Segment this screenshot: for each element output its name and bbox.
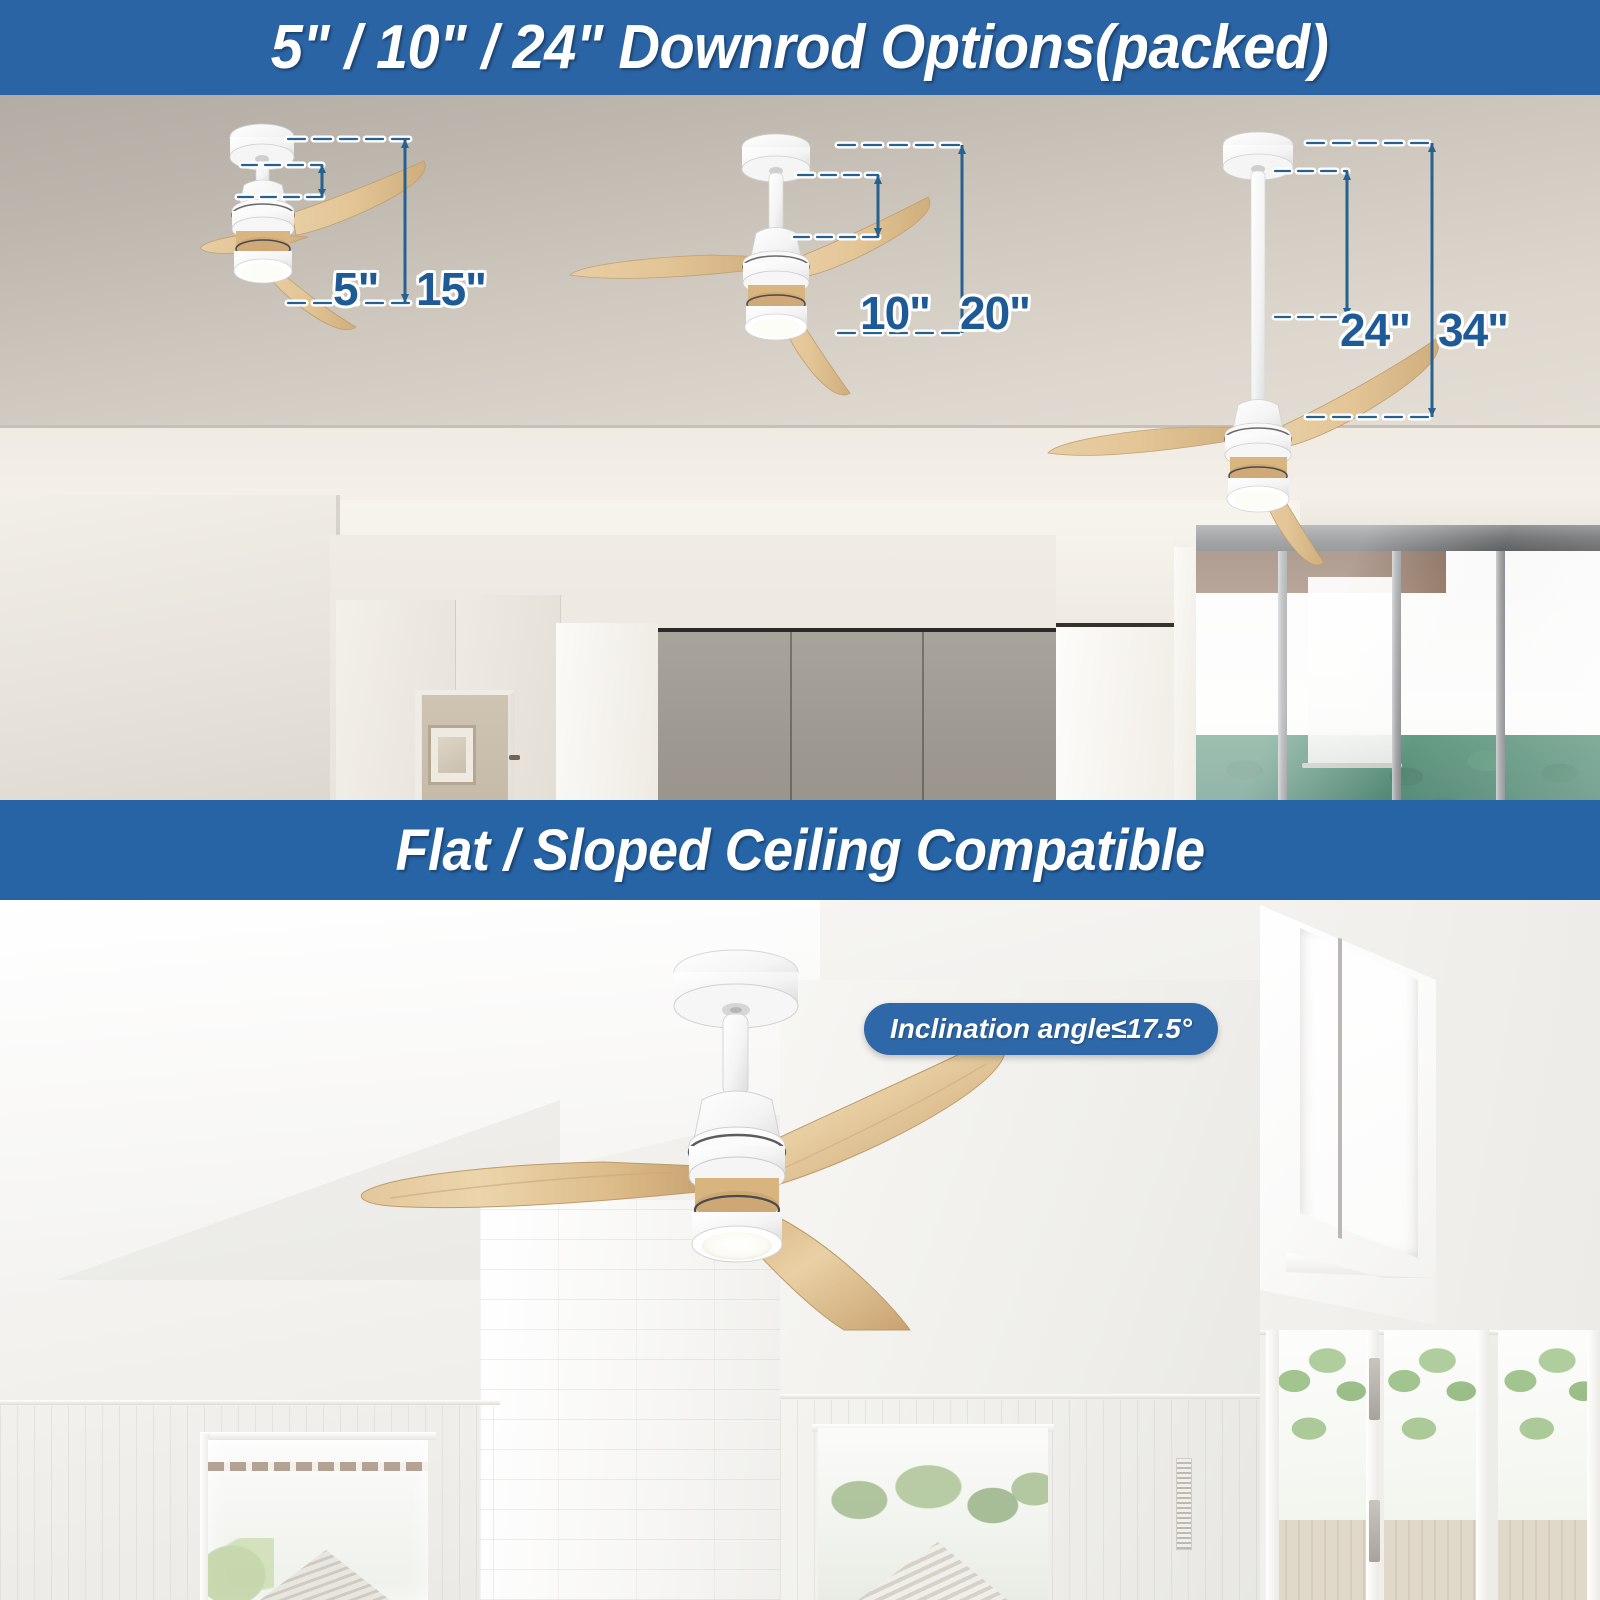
dormer-mullion — [1338, 938, 1342, 1239]
dormer-window-glass — [1300, 928, 1418, 1258]
cabinet-seam — [790, 632, 792, 800]
exterior-foliage — [1384, 1330, 1476, 1500]
exterior-foliage — [1274, 1330, 1366, 1500]
downrod — [1251, 171, 1265, 403]
french-door-stile — [1476, 1330, 1489, 1600]
sloped-ceiling-scene — [0, 900, 1600, 1600]
exterior-fence — [1384, 1520, 1476, 1600]
middle-banner: Flat / Sloped Ceiling Compatible — [0, 800, 1600, 900]
pergola-slats — [208, 1462, 428, 1471]
exterior-foliage — [1498, 1330, 1600, 1500]
roller-blind-bar — [1302, 763, 1402, 768]
french-doors — [1266, 1330, 1600, 1600]
exterior-fence — [1498, 1520, 1600, 1600]
mid-door-opening — [818, 1428, 1048, 1600]
french-door-pane[interactable] — [1274, 1330, 1366, 1600]
cabinet-seam — [922, 632, 924, 800]
inclination-angle-text: Inclination angle≤17.5° — [890, 1013, 1192, 1045]
exterior-roof — [260, 1550, 390, 1600]
middle-banner-title: Flat / Sloped Ceiling Compatible — [395, 817, 1204, 884]
ceiling-fan-sloped — [350, 930, 1070, 1330]
dimension-lines-fan2 — [790, 133, 1060, 403]
left-door-opening — [208, 1440, 428, 1600]
white-cabinet-right — [1056, 623, 1174, 800]
label-fan1-downrod: 5" — [333, 262, 378, 316]
door-hinge — [1369, 1358, 1380, 1420]
fan-blade-left — [361, 1162, 700, 1208]
window-head-rail — [1196, 525, 1600, 551]
top-banner-title: 5" / 10" / 24" Downrod Options(packed) — [271, 12, 1329, 83]
exterior-fence — [1274, 1520, 1366, 1600]
french-door-pane[interactable] — [1384, 1330, 1476, 1600]
label-fan1-total: 15" — [416, 262, 486, 316]
top-banner: 5" / 10" / 24" Downrod Options(packed) — [0, 0, 1600, 95]
dimension-lines-fan3 — [1275, 131, 1600, 471]
white-column — [556, 623, 658, 800]
window-mullion — [1496, 525, 1505, 800]
french-door-stile — [1266, 1330, 1279, 1600]
inclination-angle-badge: Inclination angle≤17.5° — [864, 1003, 1218, 1055]
window-mullion — [1392, 525, 1401, 800]
window-mullion — [1278, 525, 1287, 800]
door-hinge — [1369, 1500, 1380, 1562]
label-fan2-total: 20" — [960, 286, 1030, 340]
led-lens — [1234, 490, 1282, 510]
label-fan3-total: 34" — [1438, 303, 1508, 357]
downrod — [723, 1014, 748, 1096]
product-infographic: 5" / 10" / 24" Downrod Options(packed) — [0, 0, 1600, 1600]
grey-upper-cabinets — [658, 628, 1056, 800]
french-door-pane[interactable] — [1498, 1330, 1600, 1600]
exterior-foliage — [208, 1538, 274, 1600]
right-wall-upper — [1056, 535, 1174, 623]
french-door-stile — [1587, 1330, 1600, 1600]
wainscot-rail-left — [0, 1400, 500, 1405]
wall-picture — [428, 725, 476, 785]
label-fan2-downrod: 10" — [860, 286, 930, 340]
roller-blind — [1308, 577, 1396, 765]
wainscot-rail-mid — [780, 1394, 1260, 1399]
wall-vent-grille — [1176, 1458, 1192, 1550]
flat-ceiling-scene: 5" 15" — [0, 95, 1600, 800]
label-fan3-downrod: 24" — [1340, 303, 1410, 357]
left-wall — [0, 495, 340, 800]
left-door-head — [200, 1432, 436, 1440]
downrod — [769, 173, 783, 231]
door-handle — [509, 755, 520, 760]
dimension-lines-fan1 — [230, 125, 480, 355]
sliding-glass-wall — [1196, 525, 1600, 800]
led-lens — [702, 1232, 772, 1260]
